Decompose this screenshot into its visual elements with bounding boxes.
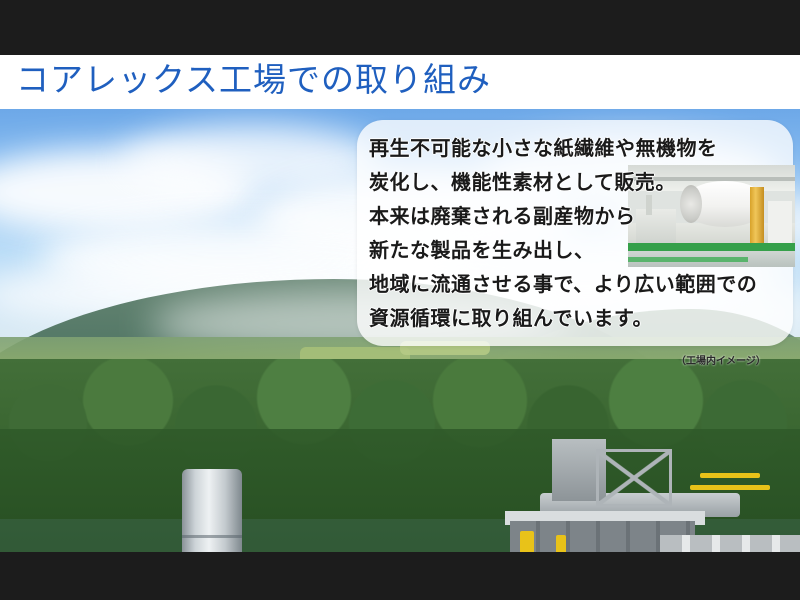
inset-caption: （工場内イメージ） <box>676 352 766 367</box>
steel-brace <box>596 449 672 507</box>
silo-wall-right <box>660 535 800 552</box>
slide-frame: コアレックス工場での取り組み <box>0 0 800 600</box>
slide-title: コアレックス工場での取り組み <box>16 56 491 104</box>
handrail <box>700 473 760 478</box>
storage-tank <box>182 469 242 552</box>
handrail <box>690 485 770 490</box>
letterbox-bar-bottom <box>0 552 800 600</box>
description-text: 再生不可能な小さな紙繊維や無機物を 炭化し、機能性素材として販売。 本来は廃棄さ… <box>369 131 789 335</box>
tank-band <box>182 535 242 538</box>
handrail-post <box>520 531 534 552</box>
background-photo: 再生不可能な小さな紙繊維や無機物を 炭化し、機能性素材として販売。 本来は廃棄さ… <box>0 109 800 552</box>
handrail-post <box>556 535 566 552</box>
factory-complex <box>0 439 800 552</box>
letterbox-bar-top <box>0 0 800 55</box>
